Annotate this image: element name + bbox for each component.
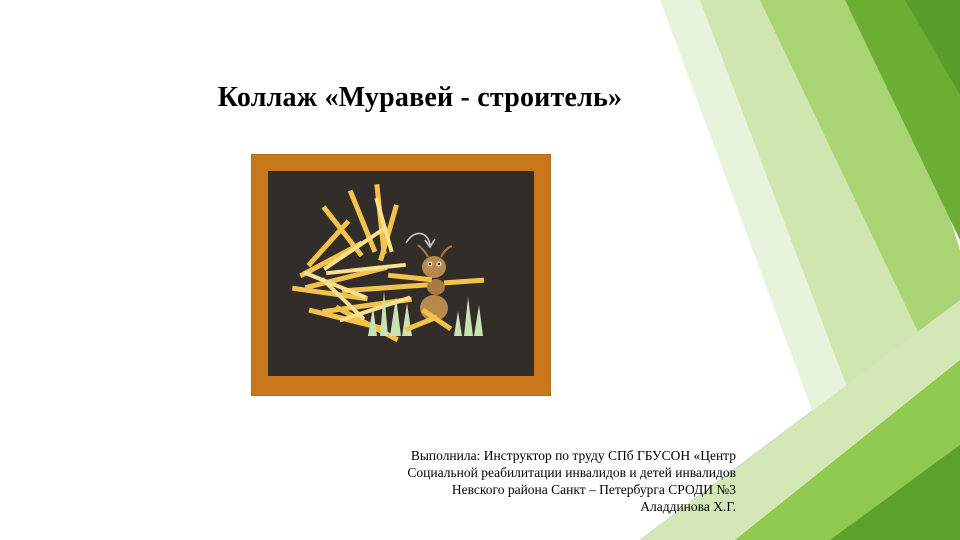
author-caption: Выполнила: Инструктор по труду СПб ГБУСО… bbox=[352, 447, 736, 515]
ribbon-mid-2 bbox=[735, 360, 960, 540]
page-title: Коллаж «Муравей - строитель» bbox=[120, 82, 720, 114]
ribbon-dark-1 bbox=[845, 0, 960, 240]
caption-line-4: Аладдинова Х.Г. bbox=[352, 498, 736, 515]
caption-line-2: Социальной реабилитации инвалидов и дете… bbox=[352, 464, 736, 481]
caption-line-1: Выполнила: Инструктор по труду СПб ГБУСО… bbox=[352, 447, 736, 464]
collage-photo-canvas bbox=[268, 171, 534, 376]
collage-artwork bbox=[268, 171, 534, 376]
ribbon-mid-1 bbox=[760, 0, 960, 420]
caption-line-3: Невского района Санкт – Петербурга СРОДИ… bbox=[352, 481, 736, 498]
slide: Коллаж «Муравей - строитель» bbox=[0, 0, 960, 540]
ribbon-dark-2 bbox=[830, 445, 960, 540]
ribbon-light-1 bbox=[700, 0, 960, 540]
ribbon-sliver bbox=[905, 0, 960, 95]
collage-photo bbox=[252, 155, 550, 395]
